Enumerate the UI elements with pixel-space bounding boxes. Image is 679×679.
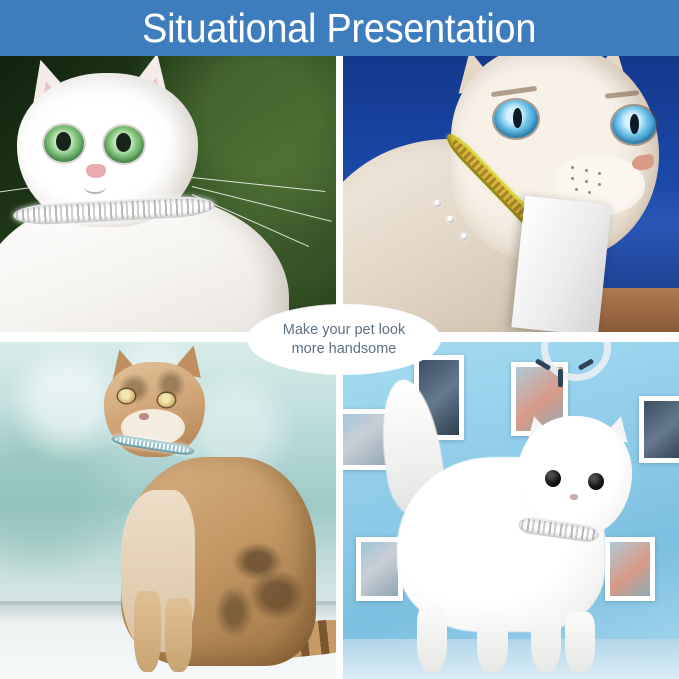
picture-frame bbox=[639, 396, 679, 463]
photo-cell-top-left[interactable] bbox=[0, 56, 336, 332]
collar-stud bbox=[434, 200, 441, 207]
cat-front-leg bbox=[165, 598, 192, 672]
photo-top-left-image bbox=[0, 56, 336, 332]
cat-eye-left bbox=[118, 389, 135, 403]
cat-nose bbox=[570, 494, 578, 500]
photo-cell-bottom-left[interactable] bbox=[0, 342, 336, 679]
callout-text: Make your pet look more handsome bbox=[283, 321, 406, 357]
callout-bubble: Make your pet look more handsome bbox=[248, 305, 440, 374]
cat-front-leg bbox=[134, 591, 161, 672]
ship-wheel-spoke bbox=[558, 369, 563, 387]
cat-hind-leg bbox=[477, 612, 507, 673]
cat-nose bbox=[86, 164, 106, 178]
floor bbox=[343, 639, 679, 679]
cat-pupil-right bbox=[116, 133, 131, 152]
cat-front-leg bbox=[565, 612, 595, 673]
photo-bottom-left-image bbox=[0, 342, 336, 679]
page-title: Situational Presentation bbox=[142, 8, 536, 49]
photo-cell-top-right[interactable] bbox=[343, 56, 679, 332]
collar-stud bbox=[461, 233, 468, 240]
cat-nose bbox=[139, 413, 149, 420]
header-banner: Situational Presentation bbox=[0, 0, 679, 56]
photo-bottom-right-image bbox=[343, 342, 679, 679]
cat-eye-left bbox=[545, 470, 561, 487]
photo-cell-bottom-right[interactable] bbox=[343, 342, 679, 679]
cat-pupil-left bbox=[513, 108, 522, 128]
white-box bbox=[511, 195, 612, 332]
cat-front-leg bbox=[531, 605, 561, 672]
picture-frame bbox=[605, 537, 655, 601]
cat-hind-leg bbox=[417, 605, 447, 672]
photo-top-right-image bbox=[343, 56, 679, 332]
cat-eye-right bbox=[158, 393, 175, 407]
product-infographic: Situational Presentation bbox=[0, 0, 679, 679]
cat-pupil-left bbox=[56, 132, 71, 151]
